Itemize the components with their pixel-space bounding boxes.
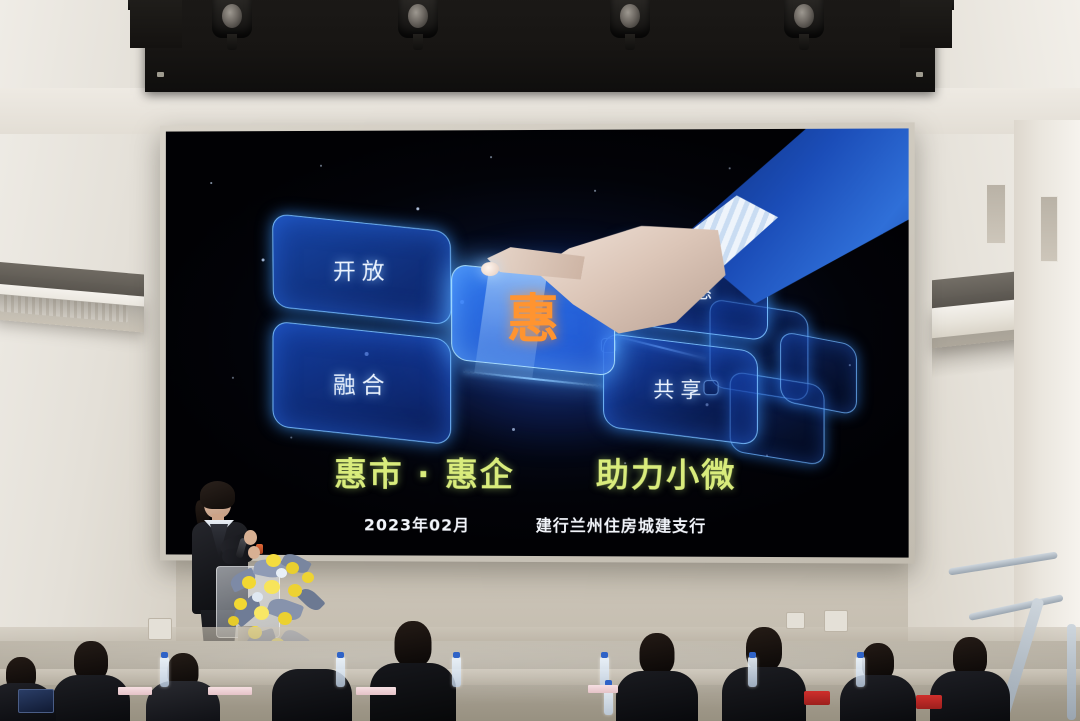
ceiling-spotlight-icon	[392, 0, 444, 52]
soffit-wing-left	[130, 0, 182, 48]
audience-shoulders	[616, 671, 698, 721]
red-card	[804, 691, 830, 705]
slide-headline: 惠市 · 惠企 助力小微	[166, 447, 909, 497]
audience-shoulders	[840, 675, 916, 721]
handout-paper	[588, 685, 618, 693]
audience-member	[840, 639, 916, 721]
handout-paper	[356, 687, 396, 695]
water-bottle	[856, 657, 865, 687]
audience-shoulders	[722, 667, 806, 721]
wall-switch	[824, 610, 848, 632]
slide-card-label: 开放	[333, 252, 391, 287]
water-bottle	[748, 657, 757, 687]
wall-niche	[986, 184, 1006, 244]
red-card	[916, 695, 942, 709]
slide-card-gongxiang: 共享	[603, 333, 758, 446]
audience-member	[370, 621, 456, 721]
audience-member	[146, 647, 220, 721]
soffit-wing-right	[900, 0, 952, 48]
water-bottle	[452, 657, 461, 687]
audience-member	[722, 627, 806, 721]
audience-head	[395, 621, 432, 667]
slide-card-ronghe: 融合	[272, 321, 451, 446]
wall-panel	[148, 618, 172, 640]
audience-member	[616, 631, 698, 721]
audience-head	[640, 633, 675, 675]
audience-member	[52, 637, 130, 721]
ceiling-spotlight-icon	[206, 0, 258, 52]
slide-card-label: 共享	[653, 374, 707, 404]
hui-logo-glyph: 惠	[507, 294, 559, 346]
audience-member	[930, 635, 1010, 721]
ceiling-spotlight-icon	[604, 0, 656, 52]
stair-railing-post	[1067, 624, 1076, 720]
slide-node-card	[780, 331, 857, 416]
presenter-hair	[200, 481, 235, 509]
presentation-photo-scene: 开放 融合 普惠 共享 惠 惠市 · 惠企 助力小微	[0, 0, 1080, 721]
handout-paper	[118, 687, 152, 695]
fingertip-highlight	[481, 262, 499, 276]
slide-subline: 2023年02月 建行兰州住房城建支行	[166, 511, 909, 538]
ceiling-spotlight-icon	[778, 0, 830, 52]
slide-card-kaifang: 开放	[272, 213, 451, 325]
wall-niche	[1040, 196, 1058, 262]
laptop	[18, 689, 54, 713]
water-bottle	[336, 657, 345, 687]
projection-screen-frame: 开放 融合 普惠 共享 惠 惠市 · 惠企 助力小微	[160, 122, 915, 563]
slide-card-label: 融合	[333, 366, 391, 400]
presenter-hand	[244, 530, 257, 545]
audience-shoulders	[930, 671, 1010, 721]
handout-paper	[208, 687, 252, 695]
audience-shoulders	[52, 675, 130, 721]
projection-screen: 开放 融合 普惠 共享 惠 惠市 · 惠企 助力小微	[166, 128, 909, 557]
water-bottle	[160, 657, 169, 687]
audience-head	[295, 631, 330, 673]
